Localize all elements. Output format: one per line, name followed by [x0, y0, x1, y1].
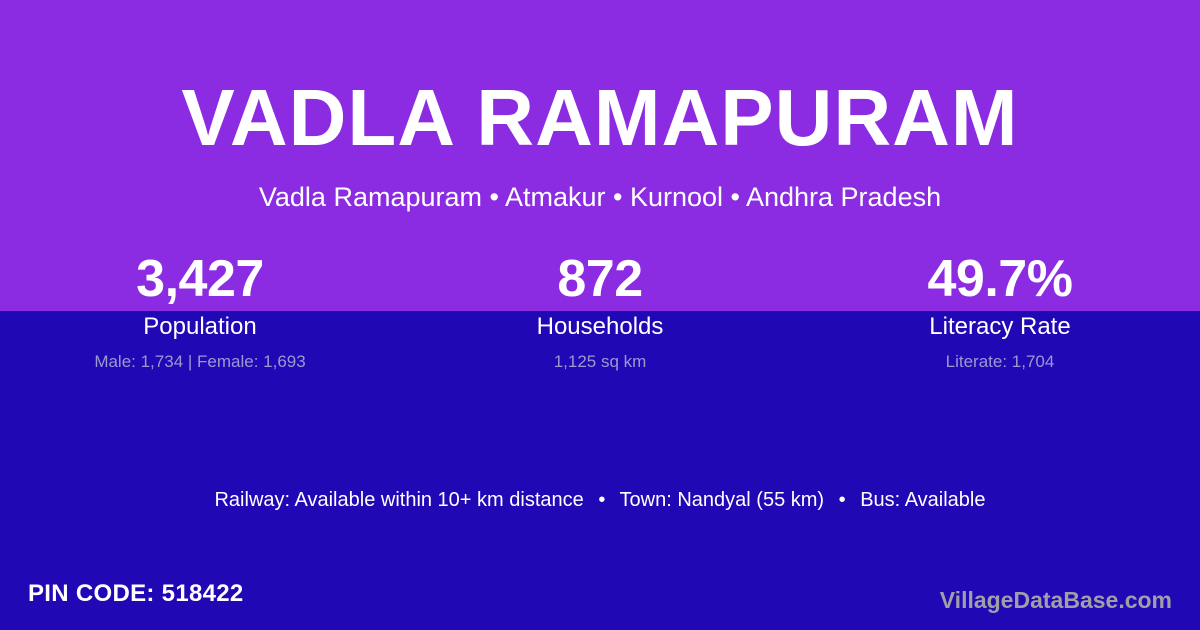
- bullet-separator-icon: •: [589, 487, 614, 513]
- amenities-info-line: Railway: Available within 10+ km distanc…: [0, 487, 1200, 513]
- stat-households: 872 Households 1,125 sq km: [400, 248, 800, 373]
- stats-row: 3,427 Population Male: 1,734 | Female: 1…: [0, 248, 1200, 373]
- bullet-separator-icon: •: [830, 487, 855, 513]
- stat-value: 49.7%: [800, 248, 1200, 310]
- village-info-card: VADLA RAMAPURAM Vadla Ramapuram • Atmaku…: [0, 0, 1200, 630]
- amenity-railway: Railway: Available within 10+ km distanc…: [214, 489, 583, 511]
- stat-label: Population: [0, 312, 400, 342]
- amenity-bus: Bus: Available: [860, 489, 985, 511]
- site-watermark: VillageDataBase.com: [940, 586, 1172, 614]
- stat-detail: Literate: 1,704: [800, 351, 1200, 373]
- stat-label: Literacy Rate: [800, 312, 1200, 342]
- stat-detail: 1,125 sq km: [400, 351, 800, 373]
- stat-detail: Male: 1,734 | Female: 1,693: [0, 351, 400, 373]
- stat-population: 3,427 Population Male: 1,734 | Female: 1…: [0, 248, 400, 373]
- page-title: VADLA RAMAPURAM: [0, 78, 1200, 158]
- pin-code: PIN CODE: 518422: [28, 580, 244, 608]
- stat-value: 872: [400, 248, 800, 310]
- stat-label: Households: [400, 312, 800, 342]
- amenity-town: Town: Nandyal (55 km): [620, 489, 825, 511]
- stat-value: 3,427: [0, 248, 400, 310]
- breadcrumb: Vadla Ramapuram • Atmakur • Kurnool • An…: [0, 182, 1200, 213]
- stat-literacy-rate: 49.7% Literacy Rate Literate: 1,704: [800, 248, 1200, 373]
